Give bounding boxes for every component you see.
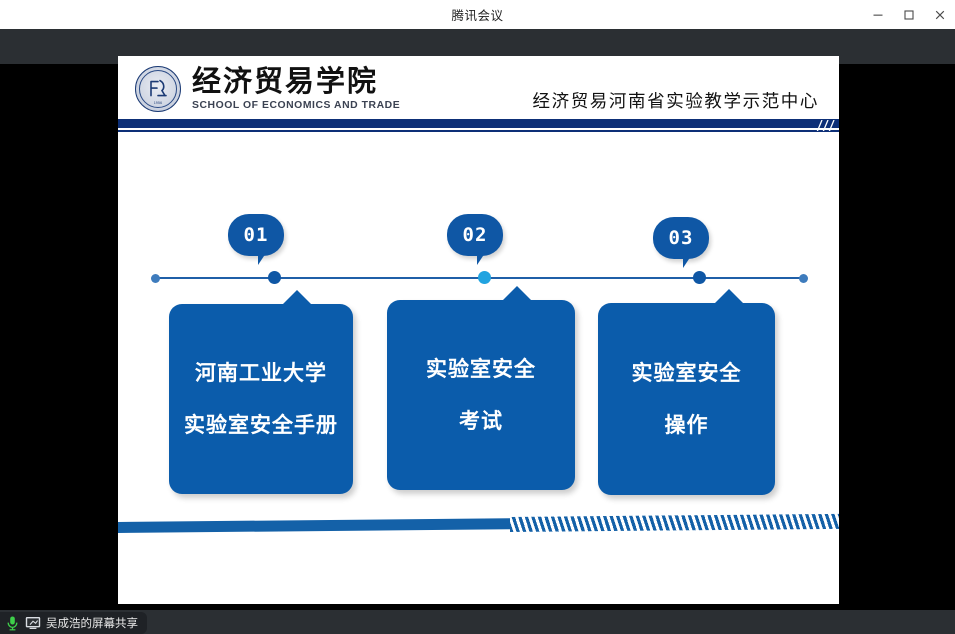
maximize-icon [903, 9, 915, 21]
badge-tail-icon [683, 256, 694, 268]
timeline-line [156, 277, 806, 279]
slide-header-subtitle: 经济贸易河南省实验教学示范中心 [533, 88, 820, 113]
minimize-button[interactable] [862, 0, 893, 29]
topic-card-1[interactable]: 河南工业大学 实验室安全手册 [169, 304, 353, 494]
slide-top-band [118, 119, 839, 128]
seal-emblem-mark [147, 79, 169, 99]
card-notch-icon [502, 286, 532, 301]
logo-title-en: SCHOOL OF ECONOMICS AND TRADE [192, 100, 400, 111]
step-badge-3[interactable]: 03 [653, 217, 709, 259]
logo-text-block: 经济贸易学院 SCHOOL OF ECONOMICS AND TRADE [192, 67, 400, 111]
topic-card-1-line2: 实验室安全手册 [184, 415, 338, 436]
step-badge-2-number: 02 [463, 224, 488, 246]
university-seal-icon: 1956 [135, 66, 181, 112]
window-titlebar: 腾讯会议 [0, 0, 955, 29]
step-badge-1[interactable]: 01 [228, 214, 284, 256]
microphone-icon [5, 615, 20, 631]
minimize-icon [872, 9, 884, 21]
screen-share-icon [25, 616, 41, 630]
logo-title-cn: 经济贸易学院 [192, 67, 400, 98]
badge-tail-icon [477, 253, 488, 265]
window-controls [862, 0, 955, 29]
step-badge-1-number: 01 [244, 224, 269, 246]
close-button[interactable] [924, 0, 955, 29]
step-badge-2[interactable]: 02 [447, 214, 503, 256]
topic-card-1-line1: 河南工业大学 [195, 363, 327, 384]
tencent-meeting-window: 腾讯会议 [0, 0, 955, 634]
institution-logo: 1956 经济贸易学院 SCHOOL OF ECONOMICS AND TRAD… [135, 66, 400, 112]
screen-share-label: 吴成浩的屏幕共享 [46, 615, 138, 631]
topic-card-2[interactable]: 实验室安全 考试 [387, 300, 575, 490]
card-notch-icon [282, 290, 312, 305]
close-icon [934, 9, 946, 21]
window-title: 腾讯会议 [451, 5, 503, 24]
timeline-end-dot [799, 274, 808, 283]
card-notch-icon [714, 289, 744, 304]
timeline-node-3 [693, 271, 706, 284]
badge-tail-icon [258, 253, 269, 265]
shared-slide: 1956 经济贸易学院 SCHOOL OF ECONOMICS AND TRAD… [118, 56, 839, 604]
slide-top-band-slashes [813, 119, 839, 131]
topic-card-3-line2: 操作 [665, 415, 709, 436]
topic-card-2-line1: 实验室安全 [426, 359, 536, 380]
timeline-node-2 [478, 271, 491, 284]
slide-top-band-line [118, 130, 839, 132]
topic-card-2-line2: 考试 [459, 411, 503, 432]
screen-share-indicator[interactable]: 吴成浩的屏幕共享 [0, 612, 147, 634]
slide-bottom-band-hatch [510, 514, 839, 532]
slide-header: 1956 经济贸易学院 SCHOOL OF ECONOMICS AND TRAD… [118, 56, 839, 119]
diagonal-slashes-icon [813, 120, 839, 131]
timeline-start-dot [151, 274, 160, 283]
slide-bottom-band [118, 518, 513, 533]
step-badge-3-number: 03 [669, 227, 694, 249]
topic-card-3-line1: 实验室安全 [632, 363, 742, 384]
topic-card-3[interactable]: 实验室安全 操作 [598, 303, 775, 495]
seal-year: 1956 [154, 101, 162, 105]
maximize-button[interactable] [893, 0, 924, 29]
timeline-node-1 [268, 271, 281, 284]
